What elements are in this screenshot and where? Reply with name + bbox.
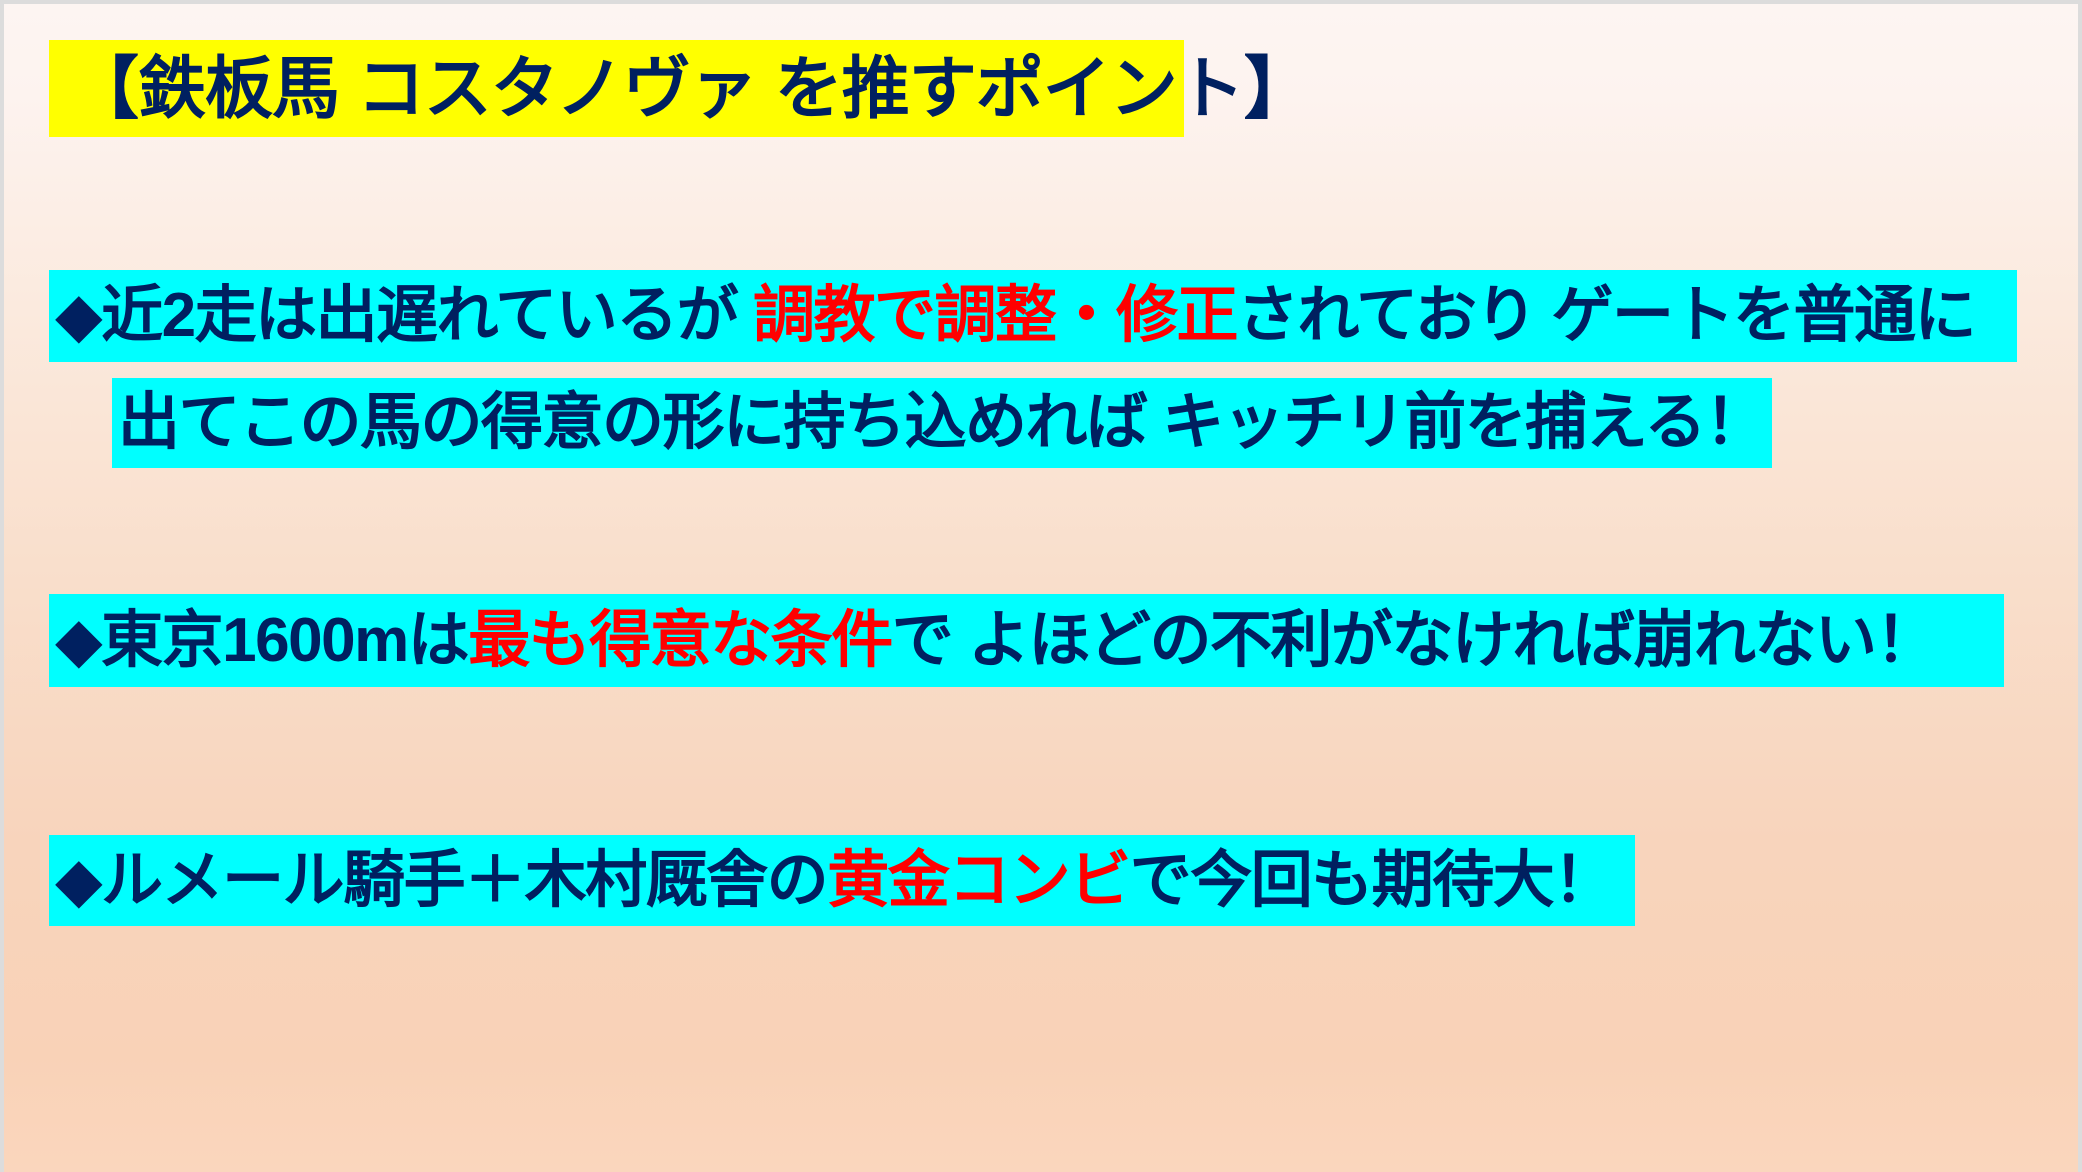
bullet-1-seg-2-emphasis: 調教で調整・修正 bbox=[753, 281, 1237, 350]
bullet-2-seg-1: ◆東京1600mは bbox=[55, 606, 468, 675]
title-highlight-band: 【鉄板馬 コスタノヴァ を推すポイント】 bbox=[49, 40, 1184, 137]
bullet-3-seg-1: ◆ルメール騎手＋木村厩舎の bbox=[55, 846, 827, 915]
bullet-1-seg-1: ◆近2走は出遅れているが bbox=[55, 281, 753, 350]
bullet-3-seg-2-emphasis: 黄金コンビ bbox=[827, 846, 1130, 915]
bullet-1-line-2-band: 出てこの馬の得意の形に持ち込めれば キッチリ前を捕える！ bbox=[112, 378, 1772, 468]
bullet-2-seg-2-emphasis: 最も得意な条件 bbox=[468, 606, 892, 675]
bullet-1-line-1-text: ◆近2走は出遅れているが 調教で調整・修正されており ゲートを普通に bbox=[55, 285, 1975, 347]
bullet-1-line-2-text: 出てこの馬の得意の形に持ち込めれば キッチリ前を捕える！ bbox=[118, 392, 1765, 454]
bullet-2-band: ◆東京1600mは最も得意な条件で よほどの不利がなければ崩れない！ bbox=[49, 594, 2004, 687]
bullet-3-text: ◆ルメール騎手＋木村厩舎の黄金コンビで今回も期待大！ bbox=[55, 850, 1614, 912]
bullet-1-line-1-band: ◆近2走は出遅れているが 調教で調整・修正されており ゲートを普通に bbox=[49, 270, 2017, 362]
bullet-2-seg-3: で よほどの不利がなければ崩れない！ bbox=[892, 606, 1936, 675]
page-title: 【鉄板馬 コスタノヴァ を推すポイント】 bbox=[71, 55, 1311, 123]
slide-canvas: 【鉄板馬 コスタノヴァ を推すポイント】 ◆近2走は出遅れているが 調教で調整・… bbox=[0, 0, 2082, 1172]
bullet-3-seg-3: で今回も期待大！ bbox=[1130, 846, 1614, 915]
bullet-2-text: ◆東京1600mは最も得意な条件で よほどの不利がなければ崩れない！ bbox=[55, 610, 1936, 672]
bullet-3-band: ◆ルメール騎手＋木村厩舎の黄金コンビで今回も期待大！ bbox=[49, 835, 1635, 926]
bullet-1-seg-3: されており ゲートを普通に bbox=[1237, 281, 1975, 350]
bullet-1-line-2-seg-1: 出てこの馬の得意の形に持ち込めれば キッチリ前を捕える！ bbox=[118, 388, 1765, 457]
